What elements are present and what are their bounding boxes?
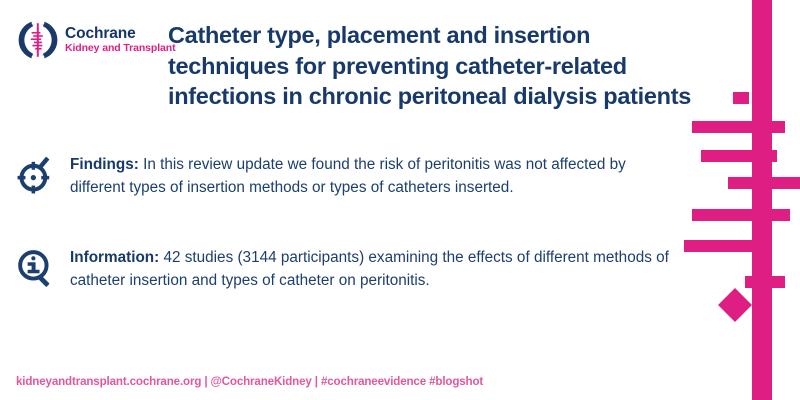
footer: kidneyandtransplant.cochrane.org | @Coch… (16, 375, 483, 388)
findings-section: Findings: In this review update we found… (14, 152, 674, 199)
magnifier-info-icon (14, 246, 58, 290)
information-body: 42 studies (3144 participants) examining… (70, 249, 669, 289)
footer-hashtags[interactable]: #cochraneevidence #blogshot (321, 375, 483, 388)
findings-label: Findings: (70, 156, 139, 173)
cochrane-logo-icon (18, 20, 58, 60)
information-text: Information: 42 studies (3144 participan… (70, 245, 674, 292)
page-title: Catheter type, placement and insertion t… (168, 20, 708, 112)
cochrane-wordmark: Cochrane Kidney and Transplant (65, 26, 176, 54)
information-label: Information: (70, 249, 159, 266)
forest-plot-bar (701, 150, 777, 162)
header: Cochrane Kidney and Transplant Catheter … (0, 0, 800, 130)
cochrane-logo[interactable]: Cochrane Kidney and Transplant (18, 20, 176, 60)
footer-website[interactable]: kidneyandtransplant.cochrane.org (16, 375, 201, 388)
brand-group-name: Kidney and Transplant (65, 43, 176, 54)
forest-plot-bar (745, 276, 785, 288)
target-crosshair-icon (14, 153, 58, 197)
footer-separator: | (201, 375, 210, 388)
forest-plot-bar (728, 177, 800, 189)
information-section: Information: 42 studies (3144 participan… (14, 245, 674, 292)
findings-text: Findings: In this review update we found… (70, 152, 674, 199)
forest-plot-bar (692, 209, 790, 221)
forest-plot-bar (684, 240, 772, 252)
footer-handle[interactable]: @CochraneKidney (211, 375, 312, 388)
findings-body: In this review update we found the risk … (70, 156, 626, 196)
footer-separator: | (312, 375, 321, 388)
forest-plot-summary-diamond (718, 288, 752, 322)
blogshot-canvas: Cochrane Kidney and Transplant Catheter … (0, 0, 800, 400)
brand-name: Cochrane (65, 26, 176, 43)
